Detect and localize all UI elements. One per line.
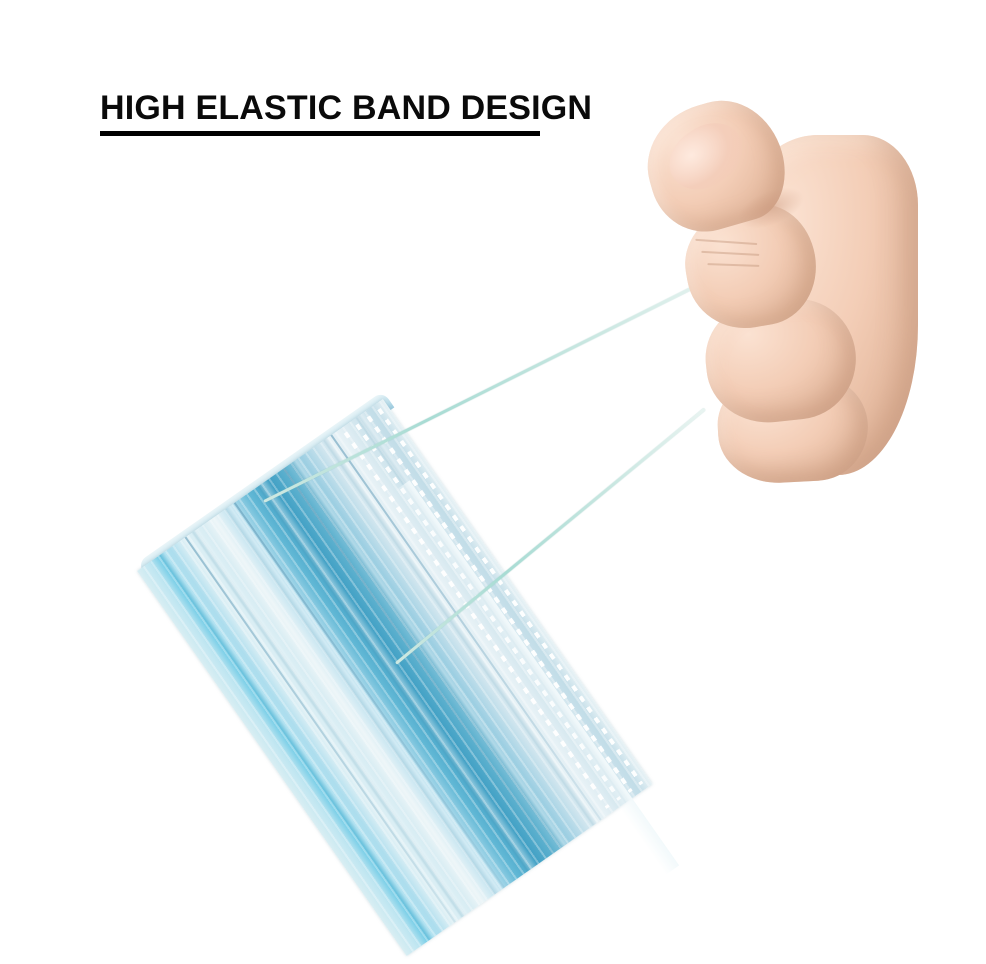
page-title: HIGH ELASTIC BAND DESIGN (100, 90, 560, 126)
skin-crease (695, 239, 757, 245)
mask-body (137, 399, 652, 956)
skin-crease (701, 251, 759, 256)
skin-crease (707, 263, 759, 267)
product-image-canvas: HIGH ELASTIC BAND DESIGN (0, 0, 986, 964)
hand (640, 95, 920, 485)
title-underline (100, 131, 540, 136)
face-mask (0, 455, 550, 964)
heading-block: HIGH ELASTIC BAND DESIGN (100, 90, 560, 126)
thumb-nail (658, 110, 755, 202)
